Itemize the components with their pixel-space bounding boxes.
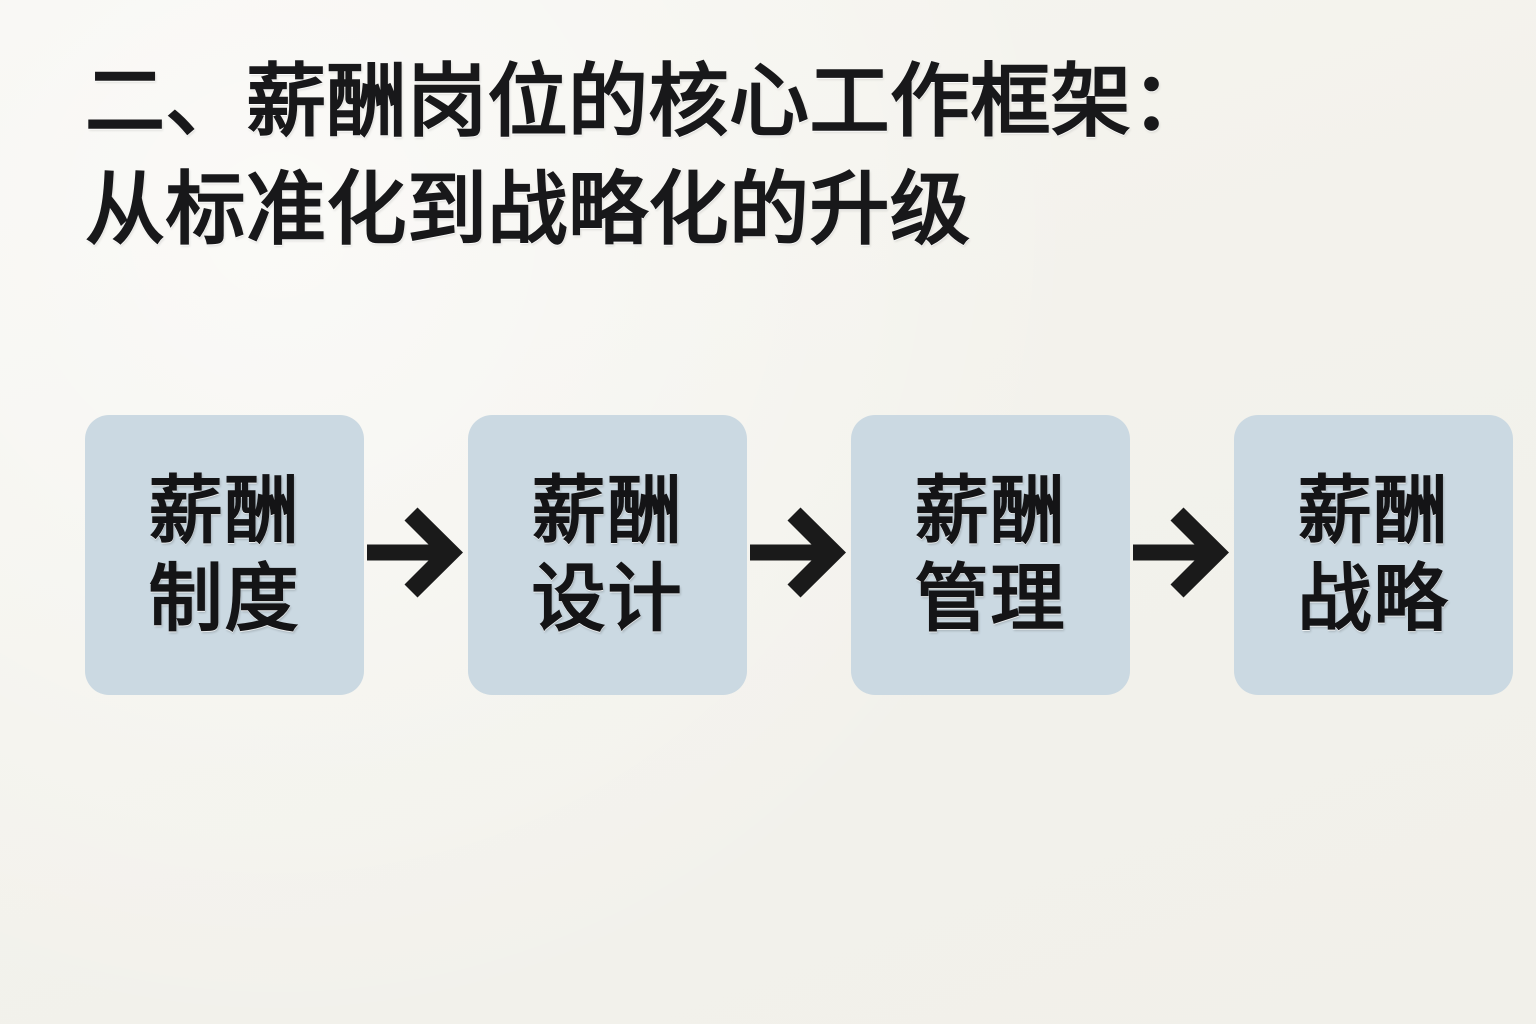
slide-canvas: 二、薪酬岗位的核心工作框架： 从标准化到战略化的升级 薪酬 制度 薪酬 设计 薪… [0,0,1536,1024]
flow-node-compensation-management[interactable]: 薪酬 管理 [851,415,1130,695]
arrow-right-icon [1130,500,1234,610]
flow-node-label-line-2: 战略 [1298,555,1450,643]
arrow-right-icon [364,500,468,610]
flow-node-label-line-2: 制度 [149,555,301,643]
flow-node-label-line-1: 薪酬 [532,467,684,555]
process-flow-diagram: 薪酬 制度 薪酬 设计 薪酬 管理 薪酬 战略 [85,415,1453,695]
flow-node-label-line-1: 薪酬 [149,467,301,555]
page-title-line-2: 从标准化到战略化的升级 [85,156,1405,264]
flow-node-label-line-1: 薪酬 [915,467,1067,555]
flow-node-label-line-2: 设计 [532,555,684,643]
flow-node-compensation-strategy[interactable]: 薪酬 战略 [1234,415,1513,695]
arrow-right-icon [747,500,851,610]
page-title-line-1: 二、薪酬岗位的核心工作框架： [85,48,1405,156]
flow-node-label-line-2: 管理 [915,555,1067,643]
flow-node-compensation-design[interactable]: 薪酬 设计 [468,415,747,695]
flow-node-compensation-system[interactable]: 薪酬 制度 [85,415,364,695]
flow-node-label-line-1: 薪酬 [1298,467,1450,555]
page-title: 二、薪酬岗位的核心工作框架： 从标准化到战略化的升级 [85,48,1405,264]
